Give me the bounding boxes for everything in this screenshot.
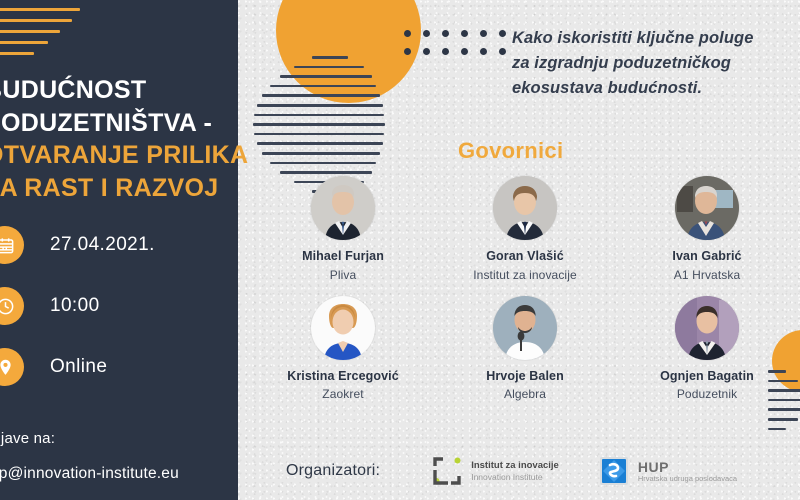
signup-email[interactable]: bvp@innovation-institute.eu — [0, 465, 262, 483]
speaker-org: A1 Hrvatska — [616, 268, 798, 282]
calendar-icon — [0, 226, 24, 264]
speaker-name: Ognjen Bagatin — [616, 369, 798, 385]
signup-block: Prijave na: bvp@innovation-institute.eu — [0, 430, 262, 483]
hup-name: HUP — [638, 459, 737, 475]
event-date-value: 27.04.2021. — [50, 234, 155, 256]
event-time-value: 10:00 — [50, 295, 100, 317]
speaker-name: Kristina Ercegović — [252, 369, 434, 385]
dot-grid-decoration — [404, 30, 518, 66]
speakers-grid: Mihael Furjan Pliva Goran Vlašić — [252, 176, 800, 401]
speaker-org: Pliva — [252, 268, 434, 282]
event-time-row: 10:00 — [0, 287, 236, 325]
event-location-value: Online — [50, 356, 107, 378]
speaker-name: Mihael Furjan — [252, 249, 434, 265]
speaker-card[interactable]: Hrvoje Balen Algebra — [434, 296, 616, 402]
speaker-card[interactable]: Ivan Gabrić A1 Hrvatska — [616, 176, 798, 282]
title-line-1: BUDUĆNOST — [0, 74, 254, 107]
avatar — [675, 176, 739, 240]
avatar — [675, 296, 739, 360]
title-line-3: OTVARANJE PRILIKA — [0, 139, 254, 172]
avatar — [493, 296, 557, 360]
page-title: BUDUĆNOST PODUZETNIŠTVA - OTVARANJE PRIL… — [0, 74, 254, 204]
hup-diamond-icon — [599, 456, 629, 486]
speaker-org: Zaokret — [252, 387, 434, 401]
title-line-4: ZA RAST I RAZVOJ — [0, 172, 254, 205]
speaker-org: Algebra — [434, 387, 616, 401]
headline: Kako iskoristiti ključne poluge za izgra… — [512, 26, 800, 101]
headline-line-1: Kako iskoristiti ključne poluge — [512, 26, 800, 51]
institut-bracket-icon — [432, 456, 462, 486]
sidebar-lines-decoration — [0, 8, 80, 63]
speaker-name: Hrvoje Balen — [434, 369, 616, 385]
speaker-card[interactable]: Ognjen Bagatin Poduzetnik — [616, 296, 798, 402]
event-meta-list: 27.04.2021. 10:00 Onli — [0, 226, 236, 409]
clock-icon — [0, 287, 24, 325]
speaker-card[interactable]: Mihael Furjan Pliva — [252, 176, 434, 282]
avatar — [311, 296, 375, 360]
location-pin-icon — [0, 348, 24, 386]
institut-name-hr: Institut za inovacije — [471, 460, 559, 471]
hup-logo-text: HUP Hrvatska udruga poslodavaca — [638, 459, 737, 484]
speaker-name: Goran Vlašić — [434, 249, 616, 265]
speaker-card[interactable]: Kristina Ercegović Zaokret — [252, 296, 434, 402]
speaker-name: Ivan Gabrić — [616, 249, 798, 265]
hup-tagline: Hrvatska udruga poslodavaca — [638, 475, 737, 484]
speaker-org: Poduzetnik — [616, 387, 798, 401]
institut-za-inovacije-logo[interactable]: Institut za inovacije Innovation Institu… — [432, 456, 559, 486]
headline-line-3: ekosustava budućnosti. — [512, 76, 800, 101]
institut-name-en: Innovation Institute — [471, 472, 559, 482]
speakers-heading: Govornici — [458, 138, 563, 164]
organizers-label: Organizatori: — [286, 462, 380, 480]
speaker-card[interactable]: Goran Vlašić Institut za inovacije — [434, 176, 616, 282]
title-line-2: PODUZETNIŠTVA - — [0, 107, 254, 140]
headline-line-2: za izgradnju poduzetničkog — [512, 51, 800, 76]
hup-logo[interactable]: HUP Hrvatska udruga poslodavaca — [599, 456, 737, 486]
event-poster: BUDUĆNOST PODUZETNIŠTVA - OTVARANJE PRIL… — [0, 0, 800, 500]
avatar — [311, 176, 375, 240]
event-date-row: 27.04.2021. — [0, 226, 236, 264]
signup-label: Prijave na: — [0, 430, 262, 447]
speaker-org: Institut za inovacije — [434, 268, 616, 282]
avatar — [493, 176, 557, 240]
institut-logo-text: Institut za inovacije Innovation Institu… — [471, 460, 559, 481]
organizers-bar: Organizatori: Institut za inovacije Inno… — [286, 456, 737, 486]
event-location-row: Online — [0, 348, 236, 386]
left-sidebar: BUDUĆNOST PODUZETNIŠTVA - OTVARANJE PRIL… — [0, 0, 238, 500]
